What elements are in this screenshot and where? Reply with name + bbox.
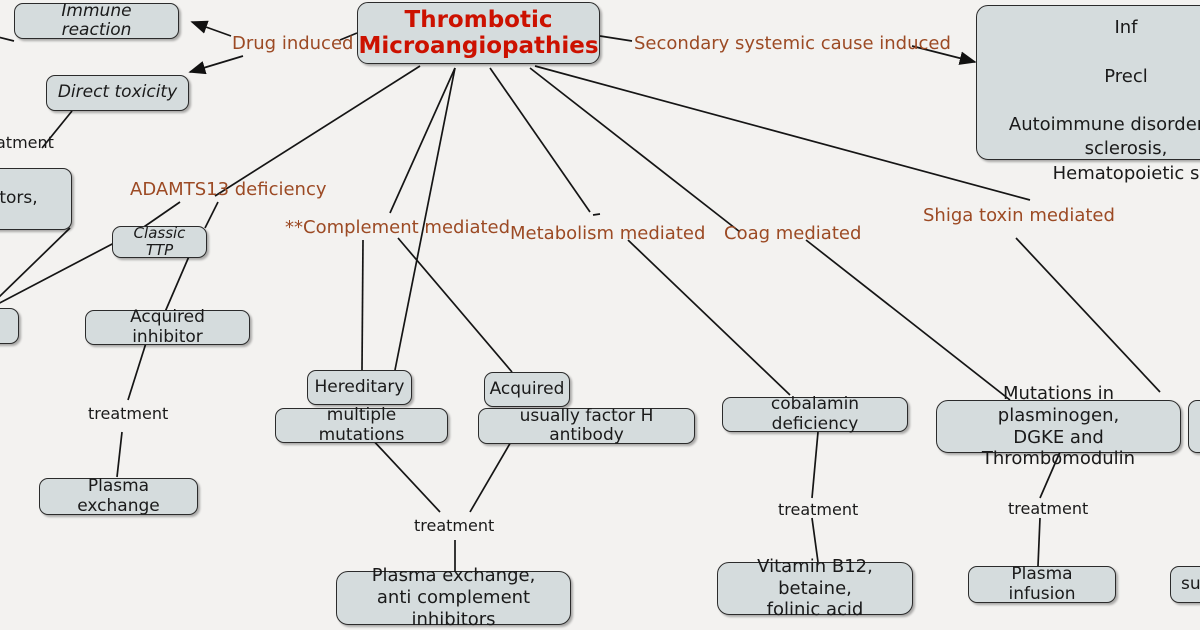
node-mutations-plasminogen[interactable]: Mutations in plasminogen, DGKE and Throm…	[936, 400, 1181, 453]
node-thrombotic-microangiopathies[interactable]: Thrombotic Microangiopathies	[357, 2, 600, 64]
node-direct-toxicity[interactable]: Direct toxicity	[46, 75, 189, 111]
edge-label-treatment-cobalamin: treatment	[778, 500, 858, 519]
node-plasma-exchange[interactable]: Plasma exchange	[39, 478, 198, 515]
edge-label-treatment-center: treatment	[414, 516, 494, 535]
edge-label-treatment-mutations: treatment	[1008, 499, 1088, 518]
node-clipped-deficiency[interactable]: cy	[0, 308, 19, 344]
link-label-secondary-systemic-cause: Secondary systemic cause induced	[634, 33, 951, 54]
node-immune-reaction[interactable]: Immune reaction	[14, 3, 179, 39]
node-cobalamin-deficiency[interactable]: cobalamin deficiency	[722, 397, 908, 432]
edge-label-treatment-left: treatment	[88, 404, 168, 423]
link-label-complement-mediated: **Complement mediated	[285, 217, 510, 238]
node-clipped-right-bottom[interactable]: su	[1170, 566, 1200, 603]
node-classic-ttp[interactable]: Classic TTP	[112, 226, 207, 258]
node-clipped-inhibitors[interactable]: hibitors,	[0, 168, 72, 230]
node-secondary-causes[interactable]: Inf Precl Autoimmune disorders (e. scler…	[976, 5, 1200, 160]
link-label-adamts13-deficiency: ADAMTS13 deficiency	[130, 179, 327, 200]
node-plasma-infusion[interactable]: Plasma infusion	[968, 566, 1116, 603]
link-label-shiga-toxin-mediated: Shiga toxin mediated	[923, 205, 1115, 226]
link-label-coag-mediated: Coag mediated	[724, 223, 861, 244]
concept-map-canvas: Thrombotic Microangiopathies Immune reac…	[0, 0, 1200, 630]
node-factor-h-antibody[interactable]: usually factor H antibody	[478, 408, 695, 444]
link-label-drug-induced: Drug induced	[232, 33, 353, 54]
edge-label-treatment-clipped: atment	[0, 133, 54, 152]
node-acquired[interactable]: Acquired	[484, 372, 570, 407]
node-clipped-right-top[interactable]	[1188, 400, 1200, 453]
node-hereditary[interactable]: Hereditary	[307, 370, 412, 405]
node-multiple-mutations[interactable]: multiple mutations	[275, 408, 448, 443]
node-plasma-exchange-anti-complement[interactable]: Plasma exchange, anti complement inhibit…	[336, 571, 571, 625]
node-vitamin-b12[interactable]: Vitamin B12, betaine, folinic acid	[717, 562, 913, 615]
node-acquired-inhibitor[interactable]: Acquired inhibitor	[85, 310, 250, 345]
link-label-metabolism-mediated: Metabolism mediated	[510, 223, 705, 244]
